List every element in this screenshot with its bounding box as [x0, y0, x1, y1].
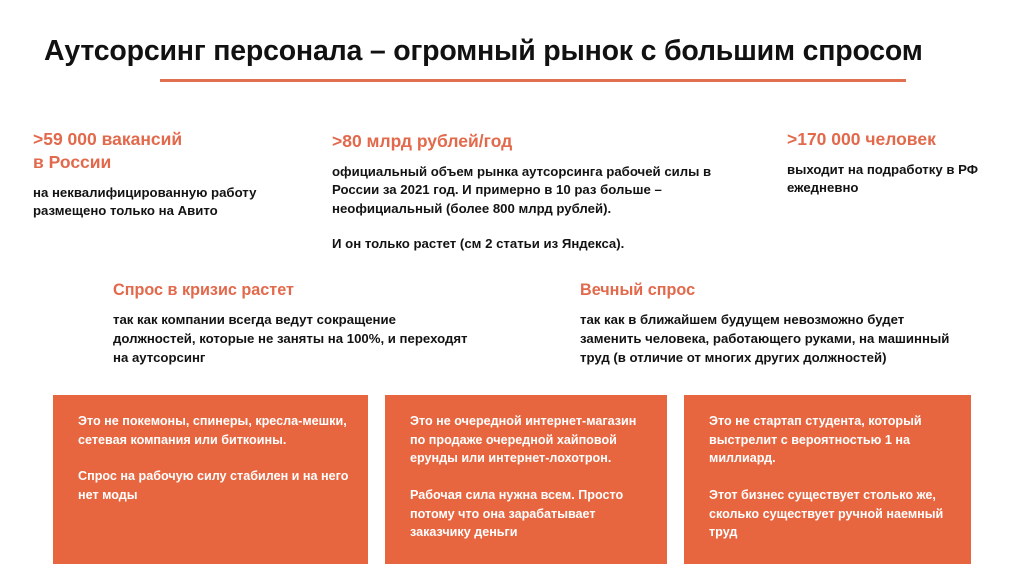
stat-body-market: официальный объем рынка аутсорсинга рабо…	[332, 163, 712, 219]
highlight-card-not-eshop-para2: Рабочая сила нужна всем. Просто потому ч…	[410, 486, 649, 542]
highlight-card-not-fad-para1: Это не покемоны, спинеры, кресла-мешки, …	[78, 412, 350, 449]
highlight-card-not-fad-para2: Спрос на рабочую силу стабилен и на него…	[78, 467, 350, 504]
demand-body-crisis: так как компании всегда ведут сокращение…	[113, 311, 473, 367]
demand-heading-eternal: Вечный спрос	[580, 281, 960, 300]
page-title: Аутсорсинг персонала – огромный рынок с …	[44, 36, 994, 67]
stat-headline-vacancies-line1: >59 000 вакансий	[33, 129, 182, 149]
stat-block-people: >170 000 человек выходит на подработку в…	[787, 128, 1022, 198]
demand-block-eternal: Вечный спрос так как в ближайшем будущем…	[580, 281, 960, 368]
stat-body-people: выходит на подработку в РФ ежедневно	[787, 161, 1022, 198]
highlight-card-not-eshop-para1: Это не очередной интернет-магазин по про…	[410, 412, 649, 468]
highlight-card-not-startup: Это не стартап студента, который выстрел…	[684, 395, 971, 564]
stat-body-vacancies: на неквалифицированную работу размещено …	[33, 184, 301, 221]
highlight-card-not-startup-para1: Это не стартап студента, который выстрел…	[709, 412, 953, 468]
stat-block-market: >80 млрд рублей/год официальный объем ры…	[332, 130, 712, 254]
title-underline-rule	[160, 79, 906, 82]
stat-headline-people: >170 000 человек	[787, 128, 1022, 151]
stat-headline-market: >80 млрд рублей/год	[332, 130, 712, 153]
demand-block-crisis: Спрос в кризис растет так как компании в…	[113, 281, 473, 368]
stat-block-vacancies: >59 000 вакансий в России на неквалифици…	[33, 128, 301, 221]
highlight-card-not-eshop: Это не очередной интернет-магазин по про…	[385, 395, 667, 564]
stat-body-market-growth: И он только растет (см 2 статьи из Яндек…	[332, 235, 712, 254]
slide-canvas: Аутсорсинг персонала – огромный рынок с …	[0, 0, 1024, 576]
highlight-card-not-startup-para2: Этот бизнес существует столько же, сколь…	[709, 486, 953, 542]
stat-headline-vacancies: >59 000 вакансий в России	[33, 128, 301, 174]
stat-headline-vacancies-line2: в России	[33, 152, 111, 172]
demand-heading-crisis: Спрос в кризис растет	[113, 281, 473, 300]
demand-body-eternal: так как в ближайшем будущем невозможно б…	[580, 311, 960, 367]
highlight-card-not-fad: Это не покемоны, спинеры, кресла-мешки, …	[53, 395, 368, 564]
